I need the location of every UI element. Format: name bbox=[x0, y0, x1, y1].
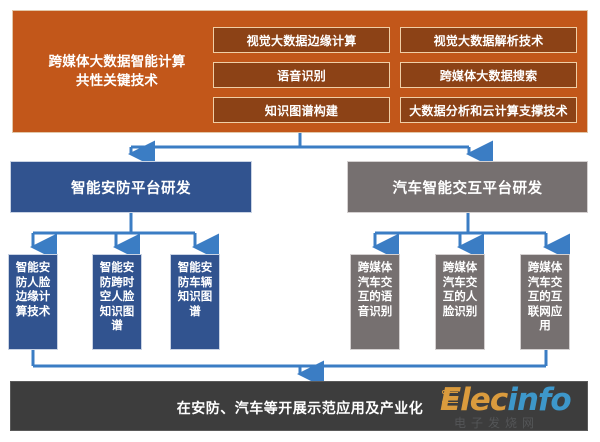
leaf-label: 跨媒体汽车交互的语音识别 bbox=[354, 260, 396, 318]
common-technology-section: 跨媒体大数据智能计算 共性关键技术 视觉大数据边缘计算 语音识别 知识图谱构建 … bbox=[12, 10, 588, 133]
common-technology-title: 跨媒体大数据智能计算 共性关键技术 bbox=[27, 53, 207, 91]
outcome-bar: 在安防、汽车等开展示范应用及产业化 Elecinfo 电子发烧网 bbox=[10, 381, 588, 431]
watermark-brand-part1: Elec bbox=[440, 382, 507, 418]
leaf-auto-internet-application[interactable]: 跨媒体汽车交互的互联网应用 bbox=[520, 254, 570, 350]
common-technology-title-line2: 共性关键技术 bbox=[27, 72, 207, 91]
tech-item-cross-media-search[interactable]: 跨媒体大数据搜索 bbox=[400, 62, 577, 88]
tech-item-knowledge-graph-construction[interactable]: 知识图谱构建 bbox=[213, 97, 390, 123]
leaf-label: 智能安防跨时空人脸知识图谱 bbox=[96, 260, 138, 333]
diagram-canvas: 跨媒体大数据智能计算 共性关键技术 视觉大数据边缘计算 语音识别 知识图谱构建 … bbox=[0, 0, 600, 442]
leaf-security-spatiotemporal-face-graph[interactable]: 智能安防跨时空人脸知识图谱 bbox=[92, 254, 142, 350]
leaf-label: 智能安防车辆知识图谱 bbox=[174, 260, 216, 318]
platform-security[interactable]: 智能安防平台研发 bbox=[10, 161, 252, 213]
common-technology-title-line1: 跨媒体大数据智能计算 bbox=[27, 53, 207, 72]
leaf-label: 智能安防人脸边缘计算技术 bbox=[12, 260, 54, 318]
tech-item-visual-analysis[interactable]: 视觉大数据解析技术 bbox=[400, 27, 577, 53]
tech-item-speech-recognition[interactable]: 语音识别 bbox=[213, 62, 390, 88]
watermark-subtitle: 电子发烧网 bbox=[454, 414, 539, 431]
watermark-elecinfo: Elecinfo 电子发烧网 bbox=[418, 383, 588, 431]
leaf-auto-face-recognition[interactable]: 跨媒体汽车交互的人脸识别 bbox=[435, 254, 485, 350]
platform-automotive[interactable]: 汽车智能交互平台研发 bbox=[347, 161, 588, 213]
leaf-security-face-edge-computing[interactable]: 智能安防人脸边缘计算技术 bbox=[8, 254, 58, 350]
leaf-auto-speech-recognition[interactable]: 跨媒体汽车交互的语音识别 bbox=[350, 254, 400, 350]
leaf-label: 跨媒体汽车交互的互联网应用 bbox=[524, 260, 566, 333]
watermark-brand: Elecinfo bbox=[440, 382, 571, 418]
leaf-label: 跨媒体汽车交互的人脸识别 bbox=[439, 260, 481, 318]
watermark-brand-part2: info bbox=[507, 382, 570, 418]
tech-item-visual-edge-computing[interactable]: 视觉大数据边缘计算 bbox=[213, 27, 390, 53]
tech-item-bigdata-cloud-support[interactable]: 大数据分析和云计算支撑技术 bbox=[400, 97, 577, 123]
technology-grid: 视觉大数据边缘计算 语音识别 知识图谱构建 视觉大数据解析技术 跨媒体大数据搜索… bbox=[201, 19, 589, 126]
leaf-security-vehicle-knowledge-graph[interactable]: 智能安防车辆知识图谱 bbox=[170, 254, 220, 350]
